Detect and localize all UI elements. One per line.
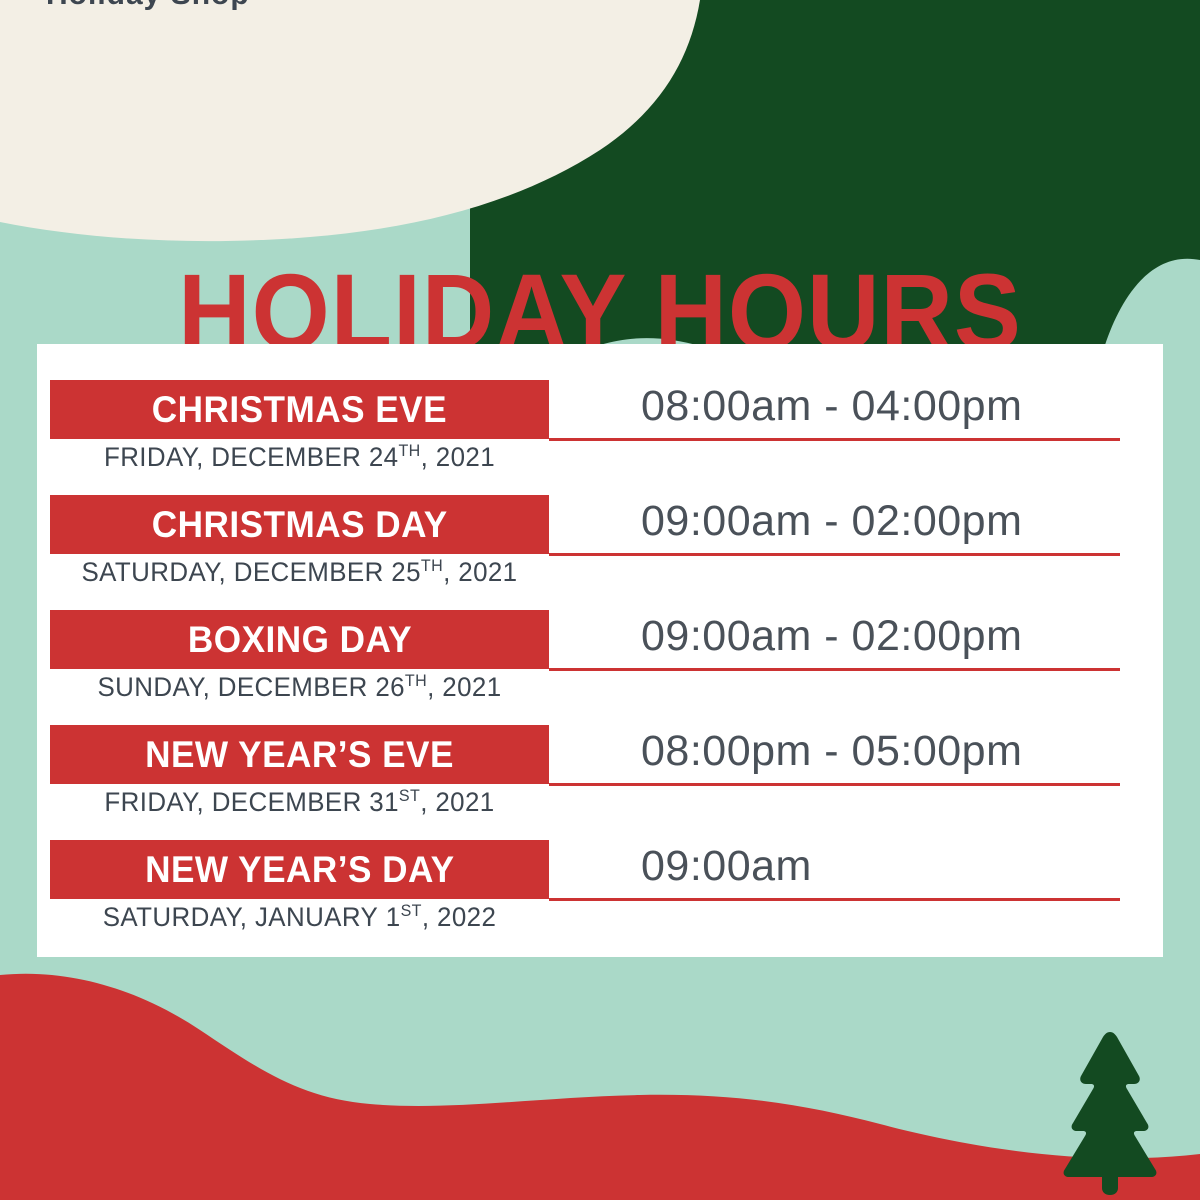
hours-value: 09:00am - 02:00pm [641,497,1022,546]
hours-underline [549,783,1120,786]
hours-underline [549,668,1120,671]
holiday-label-bar: NEW YEAR’S DAY [50,840,549,899]
date-weekday: FRIDAY [104,442,196,472]
date-ordinal: TH [405,671,427,690]
hours-value: 08:00pm - 05:00pm [641,727,1022,776]
date-comma-2: , [422,902,437,932]
holiday-label-bar: BOXING DAY [50,610,549,669]
schedule-row: NEW YEAR’S DAY SATURDAY, JANUARY 1ST, 20… [37,840,1163,955]
date-weekday: FRIDAY [104,787,196,817]
date-year: 2021 [458,557,517,587]
hours-cell: 09:00am - 02:00pm [549,610,1120,672]
date-space-1 [361,442,369,472]
date-day: 1 [386,902,401,932]
date-comma-1: , [196,442,211,472]
hours-cell: 09:00am - 02:00pm [549,495,1120,557]
hours-value: 09:00am [641,842,812,891]
holiday-name: CHRISTMAS DAY [152,504,448,546]
clipped-header-text: Holiday Shop [46,0,250,12]
schedule-row: NEW YEAR’S EVE FRIDAY, DECEMBER 31ST, 20… [37,725,1163,840]
date-comma-2: , [420,787,435,817]
date-comma-1: , [219,557,234,587]
holiday-label-bar: NEW YEAR’S EVE [50,725,549,784]
holiday-date: FRIDAY, DECEMBER 24TH, 2021 [60,442,539,473]
hours-cell: 08:00pm - 05:00pm [549,725,1120,787]
holiday-label-bar: CHRISTMAS DAY [50,495,549,554]
cream-blob [0,0,700,241]
date-space-1 [384,557,392,587]
hours-underline [549,898,1120,901]
schedule-row: CHRISTMAS DAY SATURDAY, DECEMBER 25TH, 2… [37,495,1163,610]
date-month: DECEMBER [212,787,362,817]
date-ordinal: TH [421,556,443,575]
holiday-name: NEW YEAR’S DAY [145,849,454,891]
date-comma-1: , [203,672,218,702]
date-month: DECEMBER [218,672,368,702]
holiday-name: NEW YEAR’S EVE [145,734,454,776]
schedule-card: CHRISTMAS EVE FRIDAY, DECEMBER 24TH, 202… [37,344,1163,957]
date-day: 26 [375,672,405,702]
date-weekday: SATURDAY [103,902,240,932]
date-comma-2: , [443,557,458,587]
date-ordinal: ST [401,901,422,920]
holiday-date: FRIDAY, DECEMBER 31ST, 2021 [60,787,539,818]
date-year: 2021 [435,787,494,817]
date-comma-2: , [421,442,436,472]
date-month: DECEMBER [211,442,361,472]
holiday-label-bar: CHRISTMAS EVE [50,380,549,439]
date-year: 2021 [442,672,501,702]
schedule-row: BOXING DAY SUNDAY, DECEMBER 26TH, 2021 0… [37,610,1163,725]
red-wave [0,974,1200,1200]
hours-cell: 08:00am - 04:00pm [549,380,1120,442]
christmas-tree-icon [1055,1026,1165,1196]
holiday-date: SATURDAY, JANUARY 1ST, 2022 [60,902,539,933]
schedule-row: CHRISTMAS EVE FRIDAY, DECEMBER 24TH, 202… [37,380,1163,495]
holiday-hours-poster: Holiday Shop HOLIDAY HOURS CHRISTMAS EVE… [0,0,1200,1200]
date-day: 31 [369,787,399,817]
holiday-name: CHRISTMAS EVE [152,389,447,431]
date-ordinal: TH [398,441,420,460]
date-comma-1: , [197,787,212,817]
date-weekday: SUNDAY [97,672,202,702]
hours-value: 08:00am - 04:00pm [641,382,1022,431]
hours-value: 09:00am - 02:00pm [641,612,1022,661]
date-year: 2022 [437,902,496,932]
holiday-date: SATURDAY, DECEMBER 25TH, 2021 [60,557,539,588]
date-day: 25 [391,557,421,587]
date-ordinal: ST [399,786,420,805]
hours-underline [549,553,1120,556]
date-weekday: SATURDAY [82,557,219,587]
date-day: 24 [369,442,399,472]
date-month: JANUARY [255,902,378,932]
date-comma-2: , [427,672,442,702]
date-year: 2021 [436,442,495,472]
holiday-name: BOXING DAY [187,619,411,661]
holiday-date: SUNDAY, DECEMBER 26TH, 2021 [60,672,539,703]
date-month: DECEMBER [234,557,384,587]
hours-cell: 09:00am [549,840,1120,902]
date-comma-1: , [240,902,255,932]
hours-underline [549,438,1120,441]
